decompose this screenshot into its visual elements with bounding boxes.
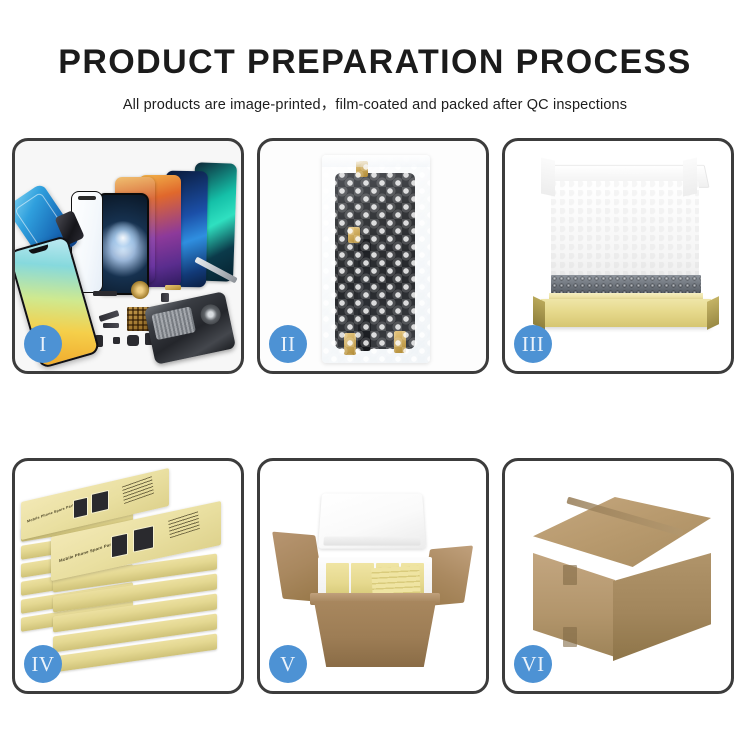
- label-window-rear-1: [73, 497, 88, 519]
- component-gold-flex: [165, 285, 181, 290]
- bubble-wrap-bag: [322, 155, 430, 363]
- component-battery-strip: [93, 291, 117, 296]
- box-label-text-front: Mobile Phone Spare Parts: [59, 541, 116, 564]
- process-step-panel-2[interactable]: II: [257, 138, 489, 374]
- label-window-front-2: [133, 525, 154, 552]
- component-speaker-coil: [131, 281, 149, 299]
- foam-fold-right: [683, 158, 697, 197]
- bag-seal: [322, 155, 430, 167]
- label-window-front-1: [111, 533, 128, 559]
- process-step-panel-1[interactable]: I: [12, 138, 244, 374]
- step-badge-3: III: [514, 325, 552, 363]
- foam-fold-left: [541, 158, 555, 197]
- page-header: PRODUCT PREPARATION PROCESS All products…: [0, 0, 750, 130]
- carton-top-face: [533, 497, 711, 567]
- component-flex-cable-1: [99, 310, 120, 322]
- component-chip-1: [113, 337, 120, 344]
- step-badge-2: II: [269, 325, 307, 363]
- kraft-box-front: [541, 299, 711, 327]
- step-badge-1: I: [24, 325, 62, 363]
- box-label-text-rear: Mobile Phone Spare Parts: [27, 502, 76, 523]
- process-step-panel-6[interactable]: VI: [502, 458, 734, 694]
- carton-tape-tab-upper: [563, 565, 577, 585]
- component-vibrator: [127, 335, 139, 346]
- foam-sheet: [551, 181, 699, 283]
- step-badge-4: IV: [24, 645, 62, 683]
- carton-tape-tab-lower: [563, 627, 577, 647]
- label-spec-lines-front: [168, 511, 200, 538]
- process-step-panel-4[interactable]: Mobile Phone Spare Parts Mobile Phone Sp…: [12, 458, 244, 694]
- label-window-rear-2: [91, 490, 109, 514]
- page-title: PRODUCT PREPARATION PROCESS: [0, 0, 750, 82]
- process-step-grid: I II III: [12, 138, 738, 694]
- step-badge-5: V: [269, 645, 307, 683]
- foam-lid: [318, 493, 426, 548]
- bubble-texture: [322, 155, 430, 363]
- step-badge-6: VI: [514, 645, 552, 683]
- carton-right-face: [613, 553, 711, 661]
- page-subtitle: All products are image-printed，film-coat…: [0, 82, 750, 114]
- label-spec-lines-rear: [122, 476, 154, 504]
- process-step-panel-5[interactable]: V: [257, 458, 489, 694]
- process-step-panel-3[interactable]: III: [502, 138, 734, 374]
- carton-body: [314, 601, 436, 667]
- component-connector-1: [161, 293, 169, 302]
- component-flex-cable-2: [103, 323, 119, 328]
